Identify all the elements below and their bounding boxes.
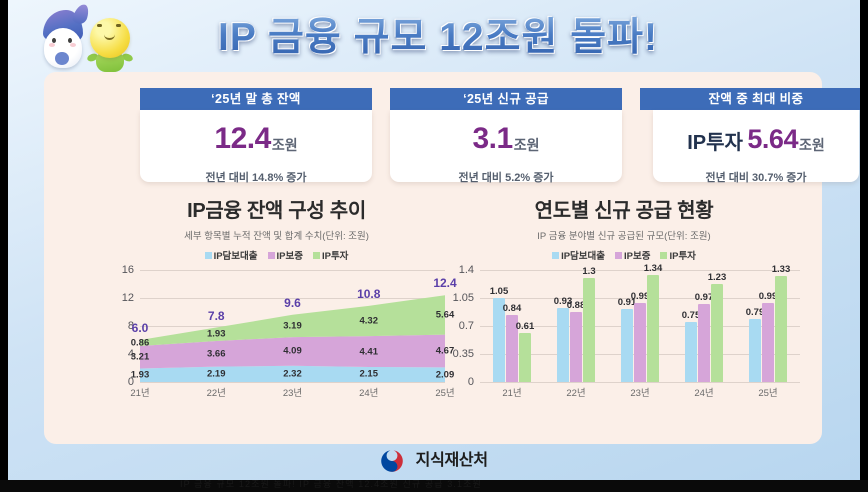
bar-IP투자 (647, 275, 659, 382)
area-segment-value-label: 4.09 (283, 346, 302, 357)
area-segment-value-label: 3.66 (207, 348, 226, 359)
stat-card-heading: 잔액 중 최대 비중 (640, 88, 860, 110)
mascot-cheek-right-icon (70, 43, 76, 47)
stat-main-line: 3.1조원 (390, 110, 622, 162)
stat-value: 5.64 (747, 124, 798, 154)
mascot-group (34, 6, 146, 70)
bar-value-label: 0.84 (503, 303, 522, 314)
y-axis-tick-label: 1.4 (444, 264, 474, 276)
y-axis-tick-label: 12 (104, 292, 134, 304)
area-segment-value-label: 2.32 (283, 368, 302, 379)
legend-item-IP담보대출: IP담보대출 (205, 248, 258, 262)
area-segment-value-label: 2.15 (360, 369, 379, 380)
header: IP 금융 규모 12조원 돌파! (8, 0, 860, 72)
chart-plot-area: 1.41.050.70.3501.050.840.610.930.881.30.… (444, 270, 804, 382)
legend-item-IP투자: IP투자 (313, 248, 348, 262)
bar-IP담보대출 (557, 308, 569, 382)
legend-swatch-icon (268, 252, 275, 259)
x-axis-tick-label: 25년 (758, 385, 777, 399)
legend-label: IP투자 (669, 251, 695, 262)
stat-card-body: 3.1조원 전년 대비 5.2% 증가 (390, 110, 622, 182)
bar-IP투자 (583, 278, 595, 382)
bar-IP투자 (519, 333, 531, 382)
stat-card-body: IP투자 5.64조원 전년 대비 30.7% 증가 (653, 110, 859, 182)
chart-title: IP금융 잔액 구성 추이 (104, 194, 449, 223)
legend-label: IP보증 (277, 251, 303, 262)
legend-item-IP투자: IP투자 (660, 248, 695, 262)
y-axis-tick-label: 8 (104, 320, 134, 332)
y-axis-tick-label: 0.7 (444, 320, 474, 332)
legend-swatch-icon (660, 252, 667, 259)
legend-swatch-icon (313, 252, 320, 259)
stat-card-heading: ‘25년 신규 공급 (390, 88, 622, 110)
x-axis-tick-label: 23년 (283, 385, 302, 399)
bar-IP보증 (698, 304, 710, 382)
y-axis-tick-label: 1.05 (444, 292, 474, 304)
bar-value-label: 1.3 (582, 266, 595, 277)
area-segment-value-label: 4.32 (360, 315, 379, 326)
chart-subtitle: 세부 항목별 누적 잔액 및 합계 수치(단위: 조원) (104, 228, 449, 242)
y-axis-tick-label: 4 (104, 348, 134, 360)
x-axis-tick-label: 21년 (502, 385, 521, 399)
chart-plot-area: 16128401.932.192.322.152.093.213.664.094… (104, 270, 449, 382)
gridline (140, 382, 445, 383)
bar-IP보증 (570, 312, 582, 382)
legend-swatch-icon (205, 252, 212, 259)
bar-IP투자 (711, 284, 723, 382)
chart-annual-new-supply: 연도별 신규 공급 현황 IP 금융 분야별 신규 공급된 규모(단위: 조원)… (444, 194, 804, 382)
footer-brand: 지식재산처 (380, 446, 488, 476)
stat-prefix: IP투자 (687, 132, 743, 154)
stat-card-new-supply: ‘25년 신규 공급 3.1조원 전년 대비 5.2% 증가 (390, 88, 622, 182)
area-segment-value-label: 4.41 (360, 346, 379, 357)
stat-value: 12.4 (214, 122, 270, 155)
korean-government-taegeuk-logo-icon (380, 449, 404, 473)
content-panel: ‘25년 말 총 잔액 12.4조원 전년 대비 14.8% 증가 ‘25년 신… (44, 72, 822, 444)
area-total-label: 9.6 (284, 296, 301, 310)
footer: 지식재산처 (8, 446, 860, 480)
bar-IP보증 (762, 303, 774, 382)
legend-item-IP담보대출: IP담보대출 (552, 248, 605, 262)
area-segment-value-label: 3.21 (131, 352, 150, 363)
legend-swatch-icon (615, 252, 622, 259)
bar-IP보증 (634, 303, 646, 382)
legend-item-IP보증: IP보증 (615, 248, 650, 262)
footer-agency-name: 지식재산처 (416, 446, 488, 476)
stat-unit: 조원 (514, 137, 540, 153)
x-axis-tick-label: 24년 (694, 385, 713, 399)
stat-main-line: 12.4조원 (140, 110, 372, 162)
bar-value-label: 1.05 (490, 286, 509, 297)
stat-subtext: 전년 대비 14.8% 증가 (140, 169, 372, 185)
lightbulb-mascot-eye-right-icon (116, 24, 121, 27)
y-axis-tick-label: 16 (104, 264, 134, 276)
mascot-cheek-left-icon (49, 43, 55, 47)
area-total-label: 7.8 (208, 309, 225, 323)
area-segment-value-label: 1.93 (207, 329, 226, 340)
legend-label: IP보증 (624, 251, 650, 262)
bar-IP담보대출 (685, 322, 697, 382)
bar-value-label: 1.33 (772, 264, 791, 275)
stat-card-largest-share: 잔액 중 최대 비중 IP투자 5.64조원 전년 대비 30.7% 증가 (640, 88, 860, 182)
page-title: IP 금융 규모 12조원 돌파! (158, 10, 718, 68)
chart-subtitle: IP 금융 분야별 신규 공급된 규모(단위: 조원) (444, 228, 804, 242)
chart-balance-composition: IP금융 잔액 구성 추이 세부 항목별 누적 잔액 및 합계 수치(단위: 조… (104, 194, 449, 382)
bar-value-label: 1.23 (708, 272, 727, 283)
area-segment-value-label: 0.86 (131, 338, 150, 349)
area-segment-value-label: 3.19 (283, 320, 302, 331)
chart-title: 연도별 신규 공급 현황 (444, 194, 804, 223)
area-segment-value-label: 1.93 (131, 370, 150, 381)
bar-IP투자 (775, 276, 787, 382)
x-axis-tick-label: 23년 (630, 385, 649, 399)
stat-unit: 조원 (799, 137, 825, 153)
x-axis-tick-label: 24년 (359, 385, 378, 399)
lightbulb-mascot-eye-left-icon (97, 24, 102, 27)
x-axis-tick-label: 22년 (207, 385, 226, 399)
gridline (480, 270, 800, 271)
legend-item-IP보증: IP보증 (268, 248, 303, 262)
x-axis-tick-label: 22년 (566, 385, 585, 399)
blue-haired-mascot-chest-icon (55, 52, 69, 65)
y-axis-tick-label: 0.35 (444, 348, 474, 360)
legend-swatch-icon (552, 252, 559, 259)
stat-subtext: 전년 대비 30.7% 증가 (653, 169, 859, 185)
legend-label: IP투자 (322, 251, 348, 262)
chart-legend: IP담보대출IP보증IP투자 (444, 248, 804, 262)
slide-canvas: IP 금융 규모 12조원 돌파! ‘25년 말 총 잔액 12.4조원 전년 … (8, 0, 860, 480)
x-axis-tick-label: 21년 (130, 385, 149, 399)
gridline (480, 382, 800, 383)
clipped-bottom-text: IP 금융 규모 12조원 돌파! IP 금융 잔액 12.4조원 신규 공급 … (180, 480, 700, 490)
stat-unit: 조원 (272, 137, 298, 153)
stat-card-body: 12.4조원 전년 대비 14.8% 증가 (140, 110, 372, 182)
y-axis-tick-label: 0 (444, 376, 474, 388)
legend-label: IP담보대출 (561, 251, 605, 262)
clipped-bottom-strip: IP 금융 규모 12조원 돌파! IP 금융 잔액 12.4조원 신규 공급 … (0, 480, 868, 492)
area-total-label: 10.8 (357, 287, 380, 301)
stat-main-line: IP투자 5.64조원 (653, 110, 859, 162)
area-segment-value-label: 2.19 (207, 369, 226, 380)
area-total-label: 6.0 (132, 321, 149, 335)
stat-value: 3.1 (473, 122, 513, 155)
stat-card-total-balance: ‘25년 말 총 잔액 12.4조원 전년 대비 14.8% 증가 (140, 88, 372, 182)
bar-IP담보대출 (621, 309, 633, 382)
stat-card-heading: ‘25년 말 총 잔액 (140, 88, 372, 110)
chart-legend: IP담보대출IP보증IP투자 (104, 248, 449, 262)
bar-value-label: 1.34 (644, 263, 663, 274)
legend-label: IP담보대출 (214, 251, 258, 262)
stat-subtext: 전년 대비 5.2% 증가 (390, 169, 622, 185)
bar-value-label: 0.61 (516, 321, 535, 332)
bar-IP담보대출 (749, 319, 761, 382)
